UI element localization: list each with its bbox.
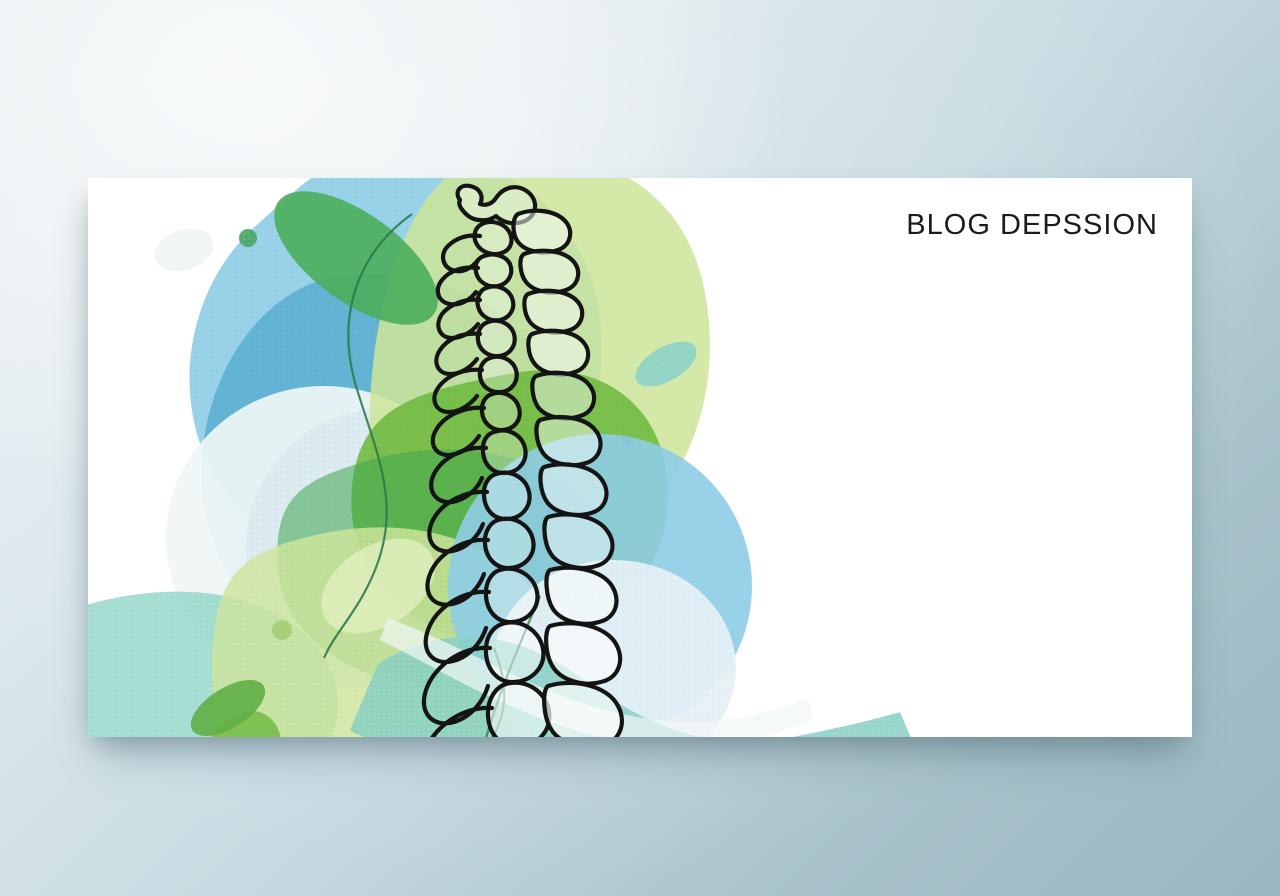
vertebra-t4: [486, 569, 538, 622]
vertebra-c5: [478, 321, 515, 356]
dot-green-upper-texture: [239, 229, 257, 247]
body-stack-1: [520, 251, 578, 293]
vertebra-c4: [477, 286, 513, 320]
vertebra-t3: [485, 519, 534, 568]
body-stack-upper: [514, 211, 571, 253]
vertebra-c3: [475, 254, 511, 286]
page-title: BLOG DEPSSION: [906, 211, 1158, 240]
body-stack-5: [536, 417, 600, 465]
vertebra-c7: [482, 393, 520, 430]
dot-green-lower: [272, 620, 292, 640]
banner-card: BLOG DEPSSION: [88, 178, 1192, 737]
dot-blue-faint: [622, 434, 634, 446]
blob-ellipse-pale-upper: [149, 222, 218, 279]
spine-illustration: [88, 178, 1192, 737]
screenshot-stage: BLOG DEPSSION: [0, 0, 1280, 896]
vertebra-l1: [486, 623, 543, 683]
vertebra-c6: [480, 357, 517, 392]
body-stack-4: [532, 373, 594, 419]
body-stack-6: [540, 464, 606, 515]
body-stack-3: [528, 331, 588, 375]
vertebra-l2: [488, 683, 549, 737]
body-stack-2: [524, 291, 582, 333]
vertebra-t2: [484, 473, 530, 519]
vertebra-t1: [483, 430, 526, 473]
